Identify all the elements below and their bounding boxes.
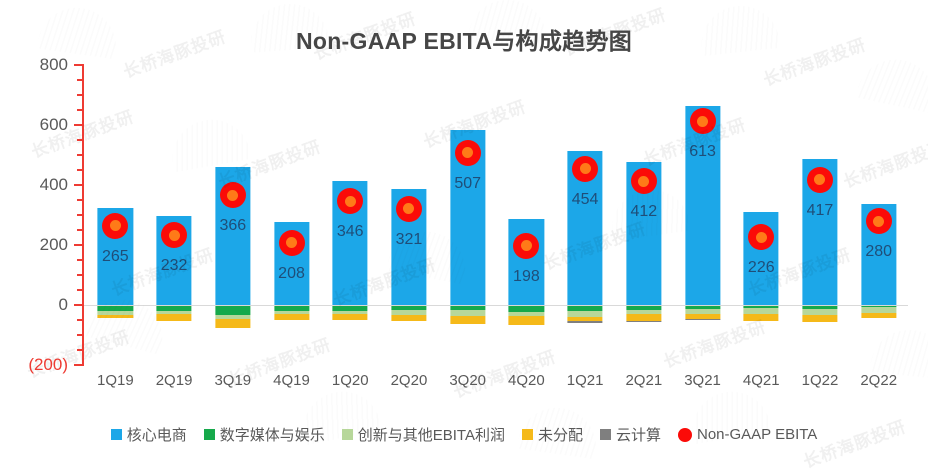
bar-segment-negative — [802, 309, 837, 316]
chart-title: Non-GAAP EBITA与构成趋势图 — [0, 22, 928, 56]
data-label: 454 — [572, 191, 599, 209]
bar-column[interactable]: 198 — [497, 65, 556, 365]
bar-segment-negative — [274, 314, 309, 320]
legend-label: 数字媒体与娱乐 — [220, 424, 325, 445]
legend-item[interactable]: 未分配 — [522, 424, 583, 445]
ebita-marker[interactable] — [220, 182, 246, 208]
legend-label: 核心电商 — [127, 424, 187, 445]
legend-item[interactable]: Non-GAAP EBITA — [678, 426, 817, 443]
bar-segment-negative — [156, 314, 191, 321]
bar-column[interactable]: 613 — [673, 65, 732, 365]
legend-label: 未分配 — [538, 424, 583, 445]
bar-segment-negative — [861, 313, 896, 318]
data-label: 412 — [630, 203, 657, 221]
bar-segment-negative — [626, 321, 661, 323]
negative-stack — [333, 305, 368, 320]
y-axis-tick — [77, 154, 84, 156]
bar-segment-core-commerce — [685, 106, 720, 305]
data-label: 280 — [865, 243, 892, 261]
bar-segment-negative — [626, 314, 661, 321]
ebita-marker[interactable] — [690, 108, 716, 134]
x-axis-tick-label: 4Q19 — [262, 372, 321, 389]
bar-column[interactable]: 346 — [321, 65, 380, 365]
bar-column[interactable]: 226 — [732, 65, 791, 365]
ebita-marker[interactable] — [513, 233, 539, 259]
legend-label: 云计算 — [616, 424, 661, 445]
y-axis-tick-label: 0 — [0, 295, 68, 315]
ebita-marker[interactable] — [161, 222, 187, 248]
ebita-marker[interactable] — [396, 196, 422, 222]
data-label: 366 — [219, 217, 246, 235]
bar-segment-negative — [568, 321, 603, 323]
y-axis-tick — [74, 364, 84, 366]
y-axis-tick — [74, 124, 84, 126]
y-axis-tick-label: 200 — [0, 235, 68, 255]
y-axis-tick-label: 800 — [0, 55, 68, 75]
legend-item[interactable]: 云计算 — [600, 424, 661, 445]
data-label: 613 — [689, 143, 716, 161]
y-axis-tick — [77, 214, 84, 216]
y-axis-tick — [77, 79, 84, 81]
legend-swatch-icon — [678, 428, 692, 442]
negative-stack — [98, 305, 133, 318]
data-label: 208 — [278, 265, 305, 283]
bar-segment-negative — [802, 315, 837, 321]
ebita-marker[interactable] — [279, 230, 305, 256]
negative-stack — [215, 305, 250, 328]
x-axis-tick-label: 2Q20 — [380, 372, 439, 389]
x-axis-tick-label: 3Q21 — [673, 372, 732, 389]
x-axis-tick-label: 2Q21 — [614, 372, 673, 389]
bar-segment-negative — [744, 314, 779, 322]
y-axis-tick-label: 600 — [0, 115, 68, 135]
legend-item[interactable]: 创新与其他EBITA利润 — [342, 424, 505, 445]
y-axis-tick-label: (200) — [0, 355, 68, 375]
y-axis-tick-label: 400 — [0, 175, 68, 195]
y-axis-tick — [77, 274, 84, 276]
legend-swatch-icon — [342, 429, 353, 440]
y-axis-tick — [77, 259, 84, 261]
zero-baseline — [82, 305, 908, 306]
negative-stack — [802, 305, 837, 322]
x-axis-tick-label: 3Q20 — [438, 372, 497, 389]
legend-swatch-icon — [522, 429, 533, 440]
y-axis-tick — [74, 64, 84, 66]
plot-area: 2652323662083463215071984544126132264172… — [86, 65, 908, 365]
y-axis-tick — [77, 139, 84, 141]
bar-segment-negative — [215, 319, 250, 328]
bar-segment-negative — [215, 305, 250, 315]
legend-swatch-icon — [204, 429, 215, 440]
bar-segment-negative — [333, 314, 368, 320]
x-axis-labels: 1Q192Q193Q194Q191Q202Q203Q204Q201Q212Q21… — [86, 372, 908, 389]
x-axis-tick-label: 1Q20 — [321, 372, 380, 389]
negative-stack — [450, 305, 485, 324]
legend-label: 创新与其他EBITA利润 — [358, 424, 505, 445]
y-axis-tick — [77, 199, 84, 201]
x-axis-tick-label: 1Q22 — [791, 372, 850, 389]
bar-segment-negative — [98, 315, 133, 319]
legend-label: Non-GAAP EBITA — [697, 426, 817, 443]
y-axis-tick — [77, 169, 84, 171]
negative-stack — [156, 305, 191, 321]
x-axis-tick-label: 1Q19 — [86, 372, 145, 389]
data-label: 417 — [807, 202, 834, 220]
bar-column[interactable]: 366 — [203, 65, 262, 365]
bar-column[interactable]: 232 — [145, 65, 204, 365]
negative-stack — [861, 305, 896, 318]
data-label: 346 — [337, 223, 364, 241]
bar-series-group: 2652323662083463215071984544126132264172… — [86, 65, 908, 365]
bar-segment-negative — [450, 316, 485, 324]
legend-item[interactable]: 数字媒体与娱乐 — [204, 424, 325, 445]
bar-column[interactable]: 321 — [380, 65, 439, 365]
y-axis-line — [82, 64, 84, 366]
legend-swatch-icon — [111, 429, 122, 440]
ebita-marker[interactable] — [102, 213, 128, 239]
bar-column[interactable]: 280 — [849, 65, 908, 365]
positive-stack — [685, 106, 720, 305]
x-axis-tick-label: 4Q21 — [732, 372, 791, 389]
data-label: 226 — [748, 259, 775, 277]
bar-column[interactable]: 454 — [556, 65, 615, 365]
y-axis-tick — [77, 334, 84, 336]
bar-column[interactable]: 208 — [262, 65, 321, 365]
ebita-marker[interactable] — [337, 188, 363, 214]
bar-segment-negative — [391, 315, 426, 322]
negative-stack — [509, 305, 544, 325]
y-axis-tick — [77, 349, 84, 351]
legend-item[interactable]: 核心电商 — [111, 424, 187, 445]
x-axis-tick-label: 1Q21 — [556, 372, 615, 389]
data-label: 507 — [454, 175, 481, 193]
x-axis-tick-label: 4Q20 — [497, 372, 556, 389]
y-axis-tick — [74, 304, 84, 306]
bar-column[interactable]: 507 — [438, 65, 497, 365]
legend-swatch-icon — [600, 429, 611, 440]
positive-stack — [509, 219, 544, 305]
ebita-marker[interactable] — [807, 167, 833, 193]
negative-stack — [391, 305, 426, 321]
y-axis-tick — [77, 319, 84, 321]
y-axis-tick — [77, 229, 84, 231]
x-axis-tick-label: 3Q19 — [203, 372, 262, 389]
data-label: 265 — [102, 248, 129, 266]
data-label: 198 — [513, 268, 540, 286]
negative-stack — [568, 305, 603, 323]
bar-segment-core-commerce — [509, 219, 544, 305]
negative-stack — [274, 305, 309, 320]
x-axis-tick-label: 2Q19 — [145, 372, 204, 389]
bar-segment-negative — [509, 305, 544, 312]
bar-column[interactable]: 412 — [614, 65, 673, 365]
data-label: 321 — [396, 231, 423, 249]
bar-column[interactable]: 265 — [86, 65, 145, 365]
negative-stack — [626, 305, 661, 322]
data-label: 232 — [161, 257, 188, 275]
y-axis-tick — [77, 94, 84, 96]
bar-segment-negative — [685, 319, 720, 320]
ebita-marker[interactable] — [866, 208, 892, 234]
ebita-marker[interactable] — [455, 140, 481, 166]
chart-legend: 核心电商数字媒体与娱乐创新与其他EBITA利润未分配云计算Non-GAAP EB… — [0, 424, 928, 445]
ebita-marker[interactable] — [631, 168, 657, 194]
y-axis-tick — [77, 109, 84, 111]
bar-column[interactable]: 417 — [791, 65, 850, 365]
bar-segment-negative — [509, 316, 544, 324]
x-axis-tick-label: 2Q22 — [849, 372, 908, 389]
y-axis-tick — [77, 289, 84, 291]
chart-container: 长桥海豚投研长桥海豚投研长桥海豚投研长桥海豚投研长桥海豚投研长桥海豚投研长桥海豚… — [0, 0, 928, 472]
negative-stack — [744, 305, 779, 321]
ebita-marker[interactable] — [748, 224, 774, 250]
y-axis-tick — [74, 244, 84, 246]
ebita-marker[interactable] — [572, 156, 598, 182]
negative-stack — [685, 305, 720, 320]
y-axis-tick — [74, 184, 84, 186]
